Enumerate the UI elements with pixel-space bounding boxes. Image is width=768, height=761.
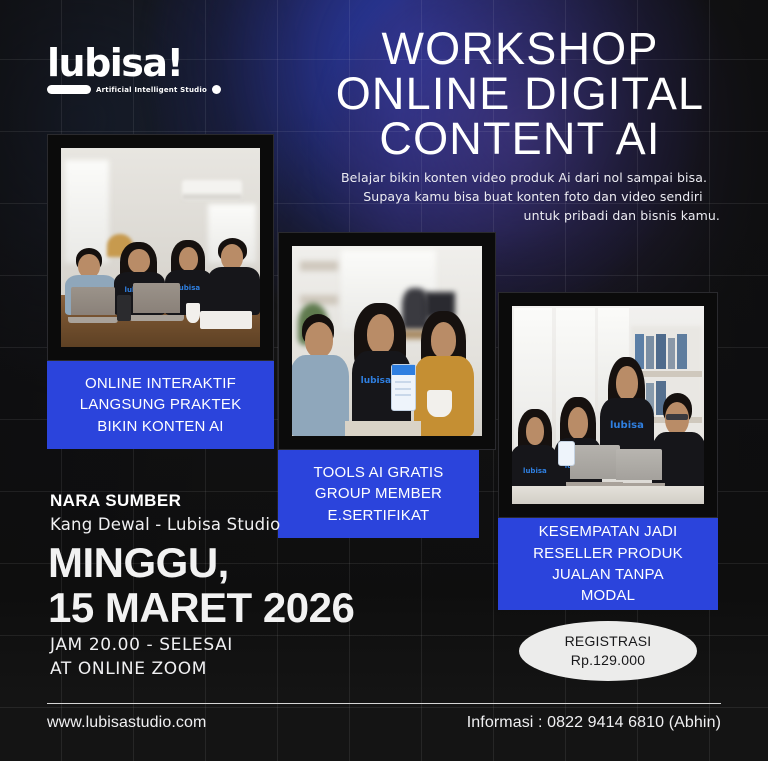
brand-logo-tagline: Artificial Intelligent Studio	[96, 86, 207, 94]
caption-box-1: ONLINE INTERAKTIF LANGSUNG PRAKTEK BIKIN…	[47, 361, 274, 449]
footer-website[interactable]: www.lubisastudio.com	[47, 714, 206, 732]
event-date: MINGGU, 15 MARET 2026	[48, 541, 448, 630]
headline-line-3: CONTENT AI	[320, 116, 720, 161]
caption-box-1-text: ONLINE INTERAKTIF LANGSUNG PRAKTEK BIKIN…	[80, 373, 242, 437]
caption-box-2-text: TOOLS AI GRATIS GROUP MEMBER E.SERTIFIKA…	[314, 462, 444, 526]
subheadline-line-3: untuk pribadi dan bisnis kamu.	[328, 206, 720, 225]
photo-2: lubisa	[292, 246, 482, 436]
speaker-name: Kang Dewal - Lubisa Studio	[50, 515, 280, 534]
speaker-label: NARA SUMBER	[50, 491, 280, 511]
event-date-line-2: 15 MARET 2026	[48, 586, 448, 631]
event-location: AT ONLINE ZOOM	[50, 657, 233, 681]
caption-box-3-text: KESEMPATAN JADI RESELLER PRODUK JUALAN T…	[533, 521, 683, 606]
event-time: JAM 20.00 - SELESAI	[50, 633, 233, 657]
subheadline-line-1: Belajar bikin konten video produk Ai dar…	[328, 168, 720, 187]
registration-price: Rp.129.000	[571, 651, 645, 670]
poster-canvas: lubisa! Artificial Intelligent Studio WO…	[0, 0, 768, 761]
event-date-line-1: MINGGU,	[48, 541, 448, 586]
registration-badge[interactable]: REGISTRASI Rp.129.000	[519, 621, 697, 681]
caption-box-2: TOOLS AI GRATIS GROUP MEMBER E.SERTIFIKA…	[278, 450, 479, 538]
caption-box-3: KESEMPATAN JADI RESELLER PRODUK JUALAN T…	[498, 518, 718, 610]
headline: WORKSHOP ONLINE DIGITAL CONTENT AI	[320, 26, 720, 161]
speaker-block: NARA SUMBER Kang Dewal - Lubisa Studio	[50, 491, 280, 534]
photo-frame-3: lubisa lubisa lubisa	[498, 292, 718, 518]
event-time-location: JAM 20.00 - SELESAI AT ONLINE ZOOM	[50, 633, 233, 681]
headline-line-2: ONLINE DIGITAL	[320, 71, 720, 116]
footer: www.lubisastudio.com Informasi : 0822 94…	[47, 714, 721, 732]
photo-1: lubisa lubisa	[61, 148, 260, 347]
brand-logo: lubisa! Artificial Intelligent Studio	[47, 44, 257, 94]
photo-3: lubisa lubisa lubisa	[512, 306, 704, 504]
footer-contact[interactable]: Informasi : 0822 9414 6810 (Abhin)	[467, 714, 721, 732]
photo-frame-2: lubisa	[278, 232, 496, 450]
registration-label: REGISTRASI	[565, 632, 652, 651]
photo-frame-1: lubisa lubisa	[47, 134, 274, 361]
dash-icon	[47, 85, 91, 94]
footer-divider	[47, 703, 721, 704]
brand-logo-wordmark: lubisa!	[47, 44, 257, 82]
subheadline: Belajar bikin konten video produk Ai dar…	[328, 168, 720, 225]
brand-logo-tagline-row: Artificial Intelligent Studio	[47, 85, 257, 94]
dot-icon	[212, 85, 221, 94]
headline-line-1: WORKSHOP	[320, 26, 720, 71]
subheadline-line-2: Supaya kamu bisa buat konten foto dan vi…	[328, 187, 720, 206]
